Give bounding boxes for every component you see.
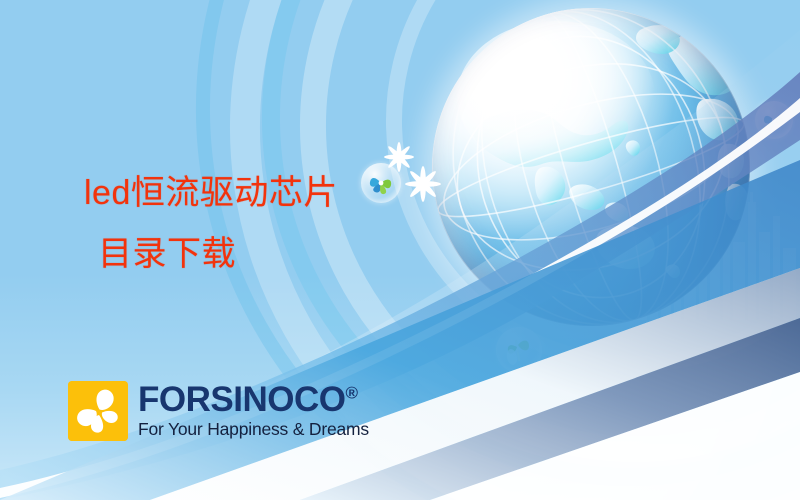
headline-line-1: led恒流驱动芯片 (84, 162, 464, 224)
registered-trademark-icon: ® (345, 383, 357, 402)
logo-tagline: For Your Happiness & Dreams (138, 419, 369, 439)
bubble-sprout-2 (496, 327, 542, 373)
brand-logo[interactable]: FORSINOCO® For Your Happiness & Dreams (68, 381, 369, 441)
sprout-leaf-icon (496, 327, 542, 373)
bubble-pinwheel-3 (755, 101, 793, 139)
poster-canvas: led恒流驱动芯片 目录下载 FORSINOCO® For Your Happi… (0, 0, 800, 500)
logo-wordmark-text: FORSINOCO (138, 380, 345, 419)
logo-text-block: FORSINOCO® For Your Happiness & Dreams (138, 383, 369, 439)
globe-graphic (432, 8, 750, 326)
logo-wordmark: FORSINOCO® (138, 383, 369, 417)
page-title: led恒流驱动芯片 目录下载 (84, 162, 464, 286)
globe-rim-shadow (432, 8, 750, 326)
pinwheel-icon (755, 101, 793, 139)
headline-line-2: 目录下载 (84, 224, 464, 286)
four-petal-pinwheel-icon (68, 381, 128, 441)
